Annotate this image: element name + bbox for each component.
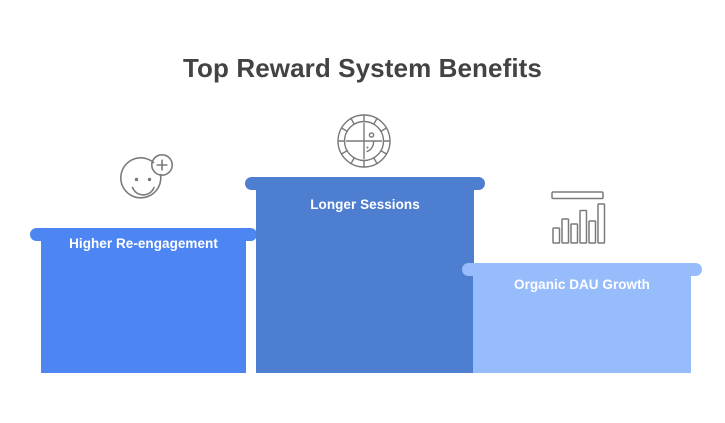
podium-cap-2 (245, 177, 485, 190)
podium-label-2: Longer Sessions (256, 197, 474, 212)
podium-label-1: Higher Re-engagement (41, 236, 246, 251)
bar-chart-icon (548, 190, 610, 246)
clock-dial-icon (333, 110, 395, 172)
podium-cap-3 (462, 263, 702, 276)
podium-label-3: Organic DAU Growth (473, 277, 691, 292)
infographic-canvas: Top Reward System Benefits Higher Re-eng… (0, 0, 725, 423)
page-title: Top Reward System Benefits (0, 53, 725, 84)
podium-body-1 (41, 234, 246, 373)
smiley-plus-icon (116, 150, 178, 212)
